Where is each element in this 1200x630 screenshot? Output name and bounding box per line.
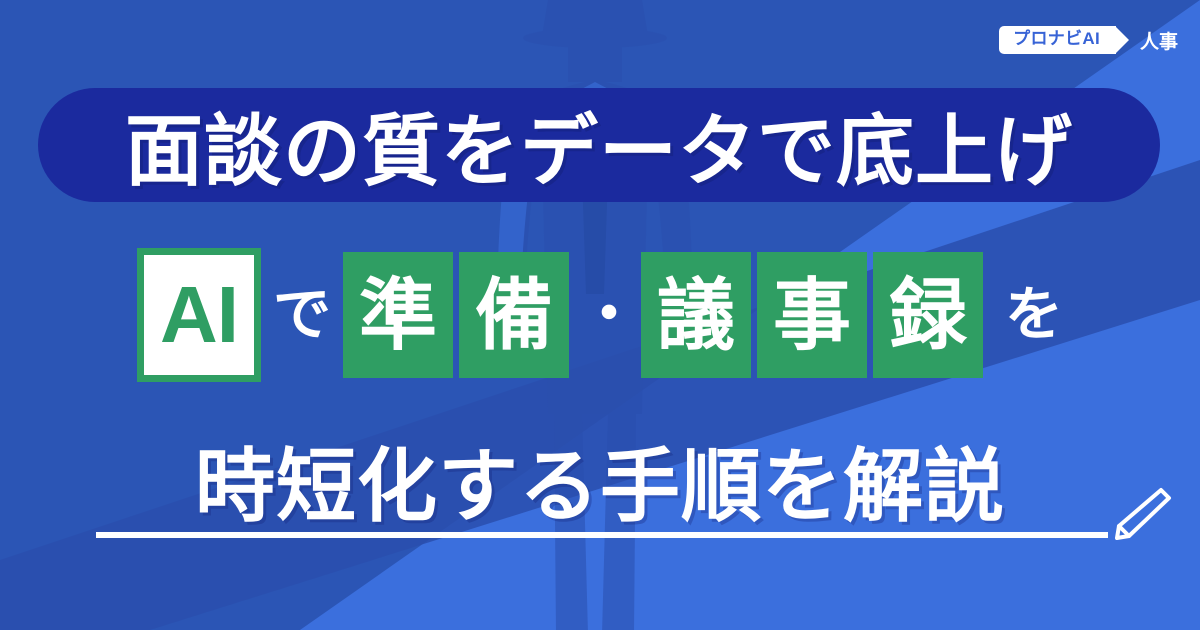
brand-logo-suffix: 人事 <box>1140 27 1178 54</box>
brand-logo-arrow-icon <box>1115 26 1129 54</box>
headline-underline <box>96 532 1108 538</box>
kanji-badge-jun: 準 <box>343 252 453 378</box>
headline-line1: 面談の質をデータで底上げ <box>38 88 1160 202</box>
kanji-badge-bi: 備 <box>459 252 569 378</box>
headline-separator: ・ <box>575 285 641 345</box>
headline-line2: AI で 準 備 ・ 議 事 録 を <box>0 246 1200 384</box>
ai-badge: AI <box>137 248 261 382</box>
pencil-icon <box>1105 484 1173 546</box>
headline-connector: で <box>261 286 343 344</box>
headline-tail: を <box>989 286 1063 344</box>
ogp-banner: プロナビAI 人事 面談の質をデータで底上げ AI で 準 備 ・ 議 事 録 … <box>0 0 1200 630</box>
kanji-badge-ji: 事 <box>757 252 867 378</box>
brand-logo[interactable]: プロナビAI 人事 <box>999 26 1178 54</box>
headline-line3: 時短化する手順を解説 <box>0 424 1200 536</box>
kanji-badge-gi: 議 <box>641 252 751 378</box>
kanji-badge-roku: 録 <box>873 252 983 378</box>
brand-logo-pill: プロナビAI <box>999 26 1116 54</box>
